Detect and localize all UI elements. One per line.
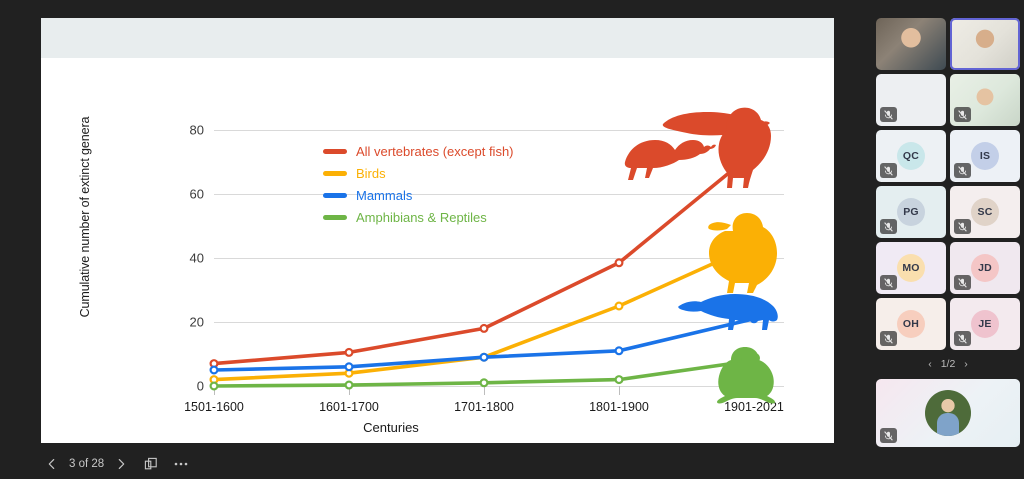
avatar-initials: IS: [971, 142, 999, 170]
presenter-avatar: [925, 390, 971, 436]
presentation-stage: Cumulative number of extinct genera Cent…: [0, 0, 872, 479]
participant-avatar-tile[interactable]: SC: [950, 186, 1020, 238]
participant-avatar-tile[interactable]: JE: [950, 298, 1020, 350]
legend-swatch: [323, 215, 347, 220]
mic-off-icon: [884, 110, 893, 120]
legend-label: Birds: [356, 166, 386, 181]
rail-pager-prev[interactable]: ‹: [928, 358, 932, 370]
legend-label: Mammals: [356, 188, 412, 203]
slide-canvas[interactable]: Cumulative number of extinct genera Cent…: [41, 18, 834, 443]
mic-muted-badge: [954, 275, 971, 290]
mic-off-icon: [958, 334, 967, 344]
data-point-marker: [616, 347, 623, 354]
previous-slide-button[interactable]: [41, 453, 63, 475]
mic-muted-badge: [954, 331, 971, 346]
mic-muted-badge: [880, 331, 897, 346]
participant-video-3[interactable]: [950, 74, 1020, 126]
avatar-initials: JE: [971, 310, 999, 338]
mic-muted-badge: [880, 163, 897, 178]
data-point-marker: [481, 354, 488, 361]
data-point-marker: [481, 379, 488, 386]
chart-legend: All vertebrates (except fish)BirdsMammal…: [323, 140, 514, 228]
participant-avatar-tile[interactable]: PG: [876, 186, 946, 238]
participant-video-1[interactable]: [876, 18, 946, 70]
legend-item: Mammals: [323, 184, 514, 206]
legend-label: Amphibians & Reptiles: [356, 210, 487, 225]
mic-muted-badge: [954, 163, 971, 178]
legend-item: Birds: [323, 162, 514, 184]
mic-off-icon: [884, 222, 893, 232]
mic-off-icon: [958, 222, 967, 232]
mic-muted-badge: [954, 107, 971, 122]
data-point-marker: [211, 383, 218, 390]
mic-muted-badge: [954, 219, 971, 234]
mic-off-icon: [884, 166, 893, 176]
mic-off-icon: [958, 166, 967, 176]
chevron-left-icon: [46, 458, 58, 470]
next-slide-button[interactable]: [110, 453, 132, 475]
data-point-marker: [346, 363, 353, 370]
mic-muted-badge: [880, 219, 897, 234]
green-frog-silhouette: [713, 346, 779, 408]
legend-label: All vertebrates (except fish): [356, 144, 514, 159]
mic-off-icon: [958, 278, 967, 288]
participant-video-2[interactable]: [950, 18, 1020, 70]
data-point-marker: [211, 367, 218, 374]
meeting-window: Cumulative number of extinct genera Cent…: [0, 0, 1024, 479]
mic-muted-badge: [880, 107, 897, 122]
participant-avatar-tile[interactable]: JD: [950, 242, 1020, 294]
rail-pager-label: 1/2: [941, 358, 956, 370]
data-point-marker: [616, 376, 623, 383]
data-point-marker: [346, 382, 353, 389]
extinction-line-chart: Cumulative number of extinct genera Cent…: [41, 58, 834, 443]
legend-item: Amphibians & Reptiles: [323, 206, 514, 228]
participant-rail: QCISPGSCMOJDOHJE ‹ 1/2 ›: [872, 0, 1024, 479]
slide-layout-button[interactable]: [140, 453, 162, 475]
data-point-marker: [346, 349, 353, 356]
avatar-initials: PG: [897, 198, 925, 226]
legend-swatch: [323, 149, 347, 154]
participant-avatar-tile[interactable]: MO: [876, 242, 946, 294]
presenter-tile[interactable]: [876, 379, 1020, 447]
legend-item: All vertebrates (except fish): [323, 140, 514, 162]
red-bird-silhouette: [615, 100, 775, 200]
rail-pager-next[interactable]: ›: [964, 358, 968, 370]
rail-pager: ‹ 1/2 ›: [876, 353, 1020, 375]
avatar-initials: QC: [897, 142, 925, 170]
data-point-marker: [616, 303, 623, 310]
data-point-marker: [481, 325, 488, 332]
avatar-initials: MO: [897, 254, 925, 282]
mic-muted-badge: [880, 428, 897, 443]
avatar-initials: OH: [897, 310, 925, 338]
slide-counter: 3 of 28: [69, 458, 104, 470]
video-tile-grid: [876, 18, 1020, 126]
data-point-marker: [616, 259, 623, 266]
mic-off-icon: [884, 334, 893, 344]
participant-face: [876, 18, 946, 70]
avatar-initials: JD: [971, 254, 999, 282]
participant-video-4[interactable]: [876, 74, 946, 126]
grid-layout-icon: [144, 457, 158, 471]
slide-header-band: [41, 18, 834, 58]
chevron-right-icon: [115, 458, 127, 470]
mic-muted-badge: [880, 275, 897, 290]
ellipsis-icon: [173, 457, 189, 471]
orange-dodo-silhouette: [703, 211, 779, 293]
participant-avatar-tile[interactable]: IS: [950, 130, 1020, 182]
legend-swatch: [323, 193, 347, 198]
legend-swatch: [323, 171, 347, 176]
mic-off-icon: [884, 431, 893, 441]
mic-off-icon: [958, 110, 967, 120]
participant-face: [950, 18, 1020, 70]
participant-avatar-tile[interactable]: OH: [876, 298, 946, 350]
blue-thylacine-silhouette: [675, 284, 779, 334]
more-options-button[interactable]: [170, 453, 192, 475]
mic-off-icon: [884, 278, 893, 288]
participant-avatar-tile[interactable]: QC: [876, 130, 946, 182]
avatar-initials: SC: [971, 198, 999, 226]
slide-navigation-toolbar: 3 of 28: [41, 452, 192, 476]
avatar-tile-grid: QCISPGSCMOJDOHJE: [876, 130, 1020, 350]
